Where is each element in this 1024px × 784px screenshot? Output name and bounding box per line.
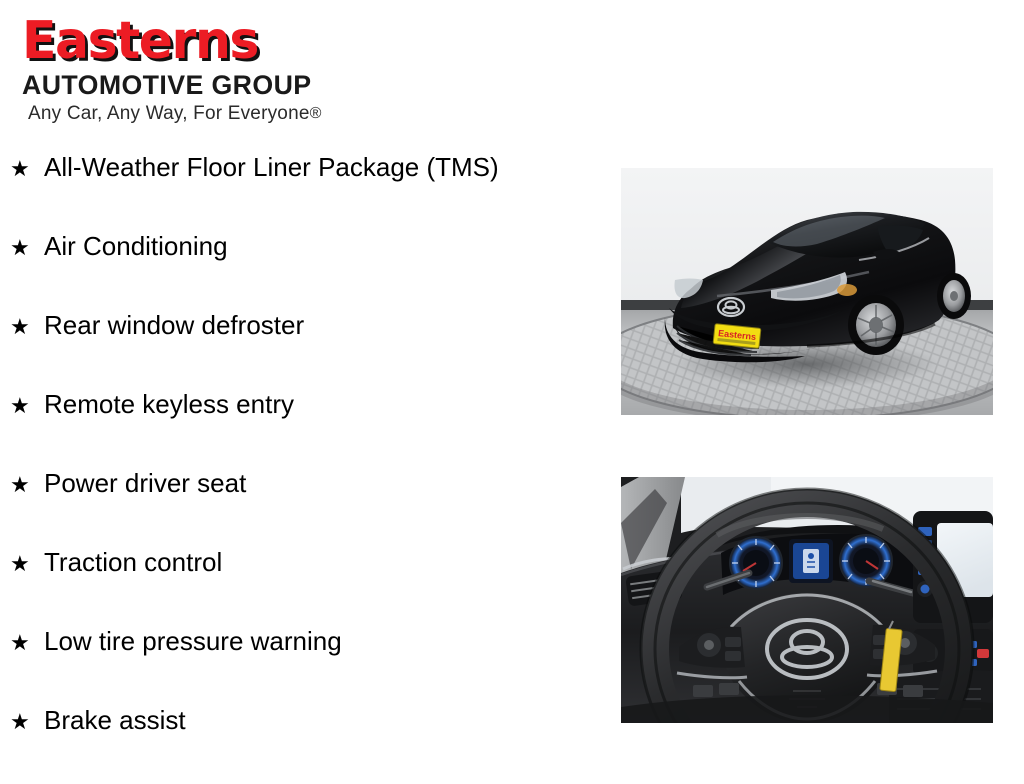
star-bullet-icon: ★: [10, 233, 44, 263]
front-wheel: [848, 295, 904, 355]
dealer-license-plate: Easterns: [713, 324, 761, 349]
exterior-photo-artwork: Easterns: [621, 168, 993, 415]
feature-label: Low tire pressure warning: [44, 626, 342, 656]
star-bullet-icon: ★: [10, 628, 44, 658]
logo-subtitle: AUTOMOTIVE GROUP: [22, 70, 359, 100]
feature-label: All-Weather Floor Liner Package (TMS): [44, 152, 499, 182]
easterns-automotive-group-logo: Easterns AUTOMOTIVE GROUP Any Car, Any W…: [22, 14, 362, 125]
feature-list-item: ★ Rear window defroster: [10, 310, 610, 389]
vehicle-exterior-photo[interactable]: Easterns: [621, 168, 993, 415]
registered-trademark-icon: ®: [310, 105, 322, 122]
star-bullet-icon: ★: [10, 391, 44, 421]
star-bullet-icon: ★: [10, 549, 44, 579]
vehicle-feature-list: ★ All-Weather Floor Liner Package (TMS) …: [10, 152, 610, 784]
feature-label: Remote keyless entry: [44, 389, 294, 419]
rear-wheel: [937, 273, 971, 319]
star-bullet-icon: ★: [10, 707, 44, 737]
feature-list-item: ★ Low tire pressure warning: [10, 626, 610, 705]
feature-label: Brake assist: [44, 705, 186, 735]
feature-label: Power driver seat: [44, 468, 246, 498]
feature-list-item: ★ Remote keyless entry: [10, 389, 610, 468]
feature-list-item: ★ Power driver seat: [10, 468, 610, 547]
star-bullet-icon: ★: [10, 312, 44, 342]
star-bullet-icon: ★: [10, 470, 44, 500]
feature-label: Rear window defroster: [44, 310, 304, 340]
feature-list-item: ★ Traction control: [10, 547, 610, 626]
star-bullet-icon: ★: [10, 154, 44, 184]
feature-label: Traction control: [44, 547, 222, 577]
logo-tagline-wrapper: Any Car, Any Way, For Everyone®: [22, 103, 362, 125]
feature-label: Air Conditioning: [44, 231, 228, 261]
vehicle-interior-photo[interactable]: [621, 477, 993, 723]
logo-tagline: Any Car, Any Way, For Everyone: [28, 103, 310, 124]
logo-wordmark: Easterns: [22, 14, 352, 68]
feature-list-item: ★ All-Weather Floor Liner Package (TMS): [10, 152, 610, 231]
interior-photo-artwork: [621, 477, 993, 723]
feature-list-item: ★ Brake assist: [10, 705, 610, 784]
feature-list-item: ★ Air Conditioning: [10, 231, 610, 310]
